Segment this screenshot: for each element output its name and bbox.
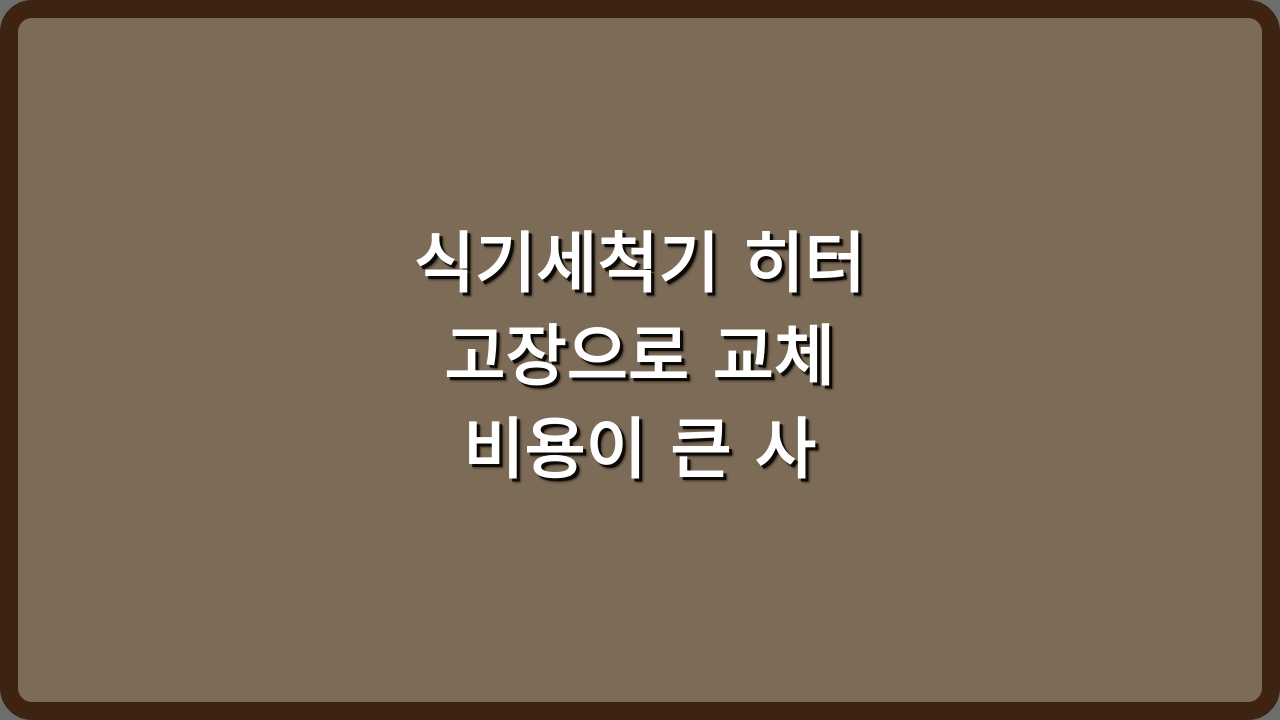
headline-line-1: 식기세척기 히터 xyxy=(58,217,1222,310)
headline-line-2: 고장으로 교체 xyxy=(58,310,1222,403)
thumbnail-canvas: 식기세척기 히터 고장으로 교체 비용이 큰 사 xyxy=(0,0,1280,720)
headline-line-3: 비용이 큰 사 xyxy=(58,403,1222,496)
headline-block: 식기세척기 히터 고장으로 교체 비용이 큰 사 xyxy=(18,217,1262,496)
rounded-card-panel: 식기세척기 히터 고장으로 교체 비용이 큰 사 xyxy=(0,0,1280,720)
